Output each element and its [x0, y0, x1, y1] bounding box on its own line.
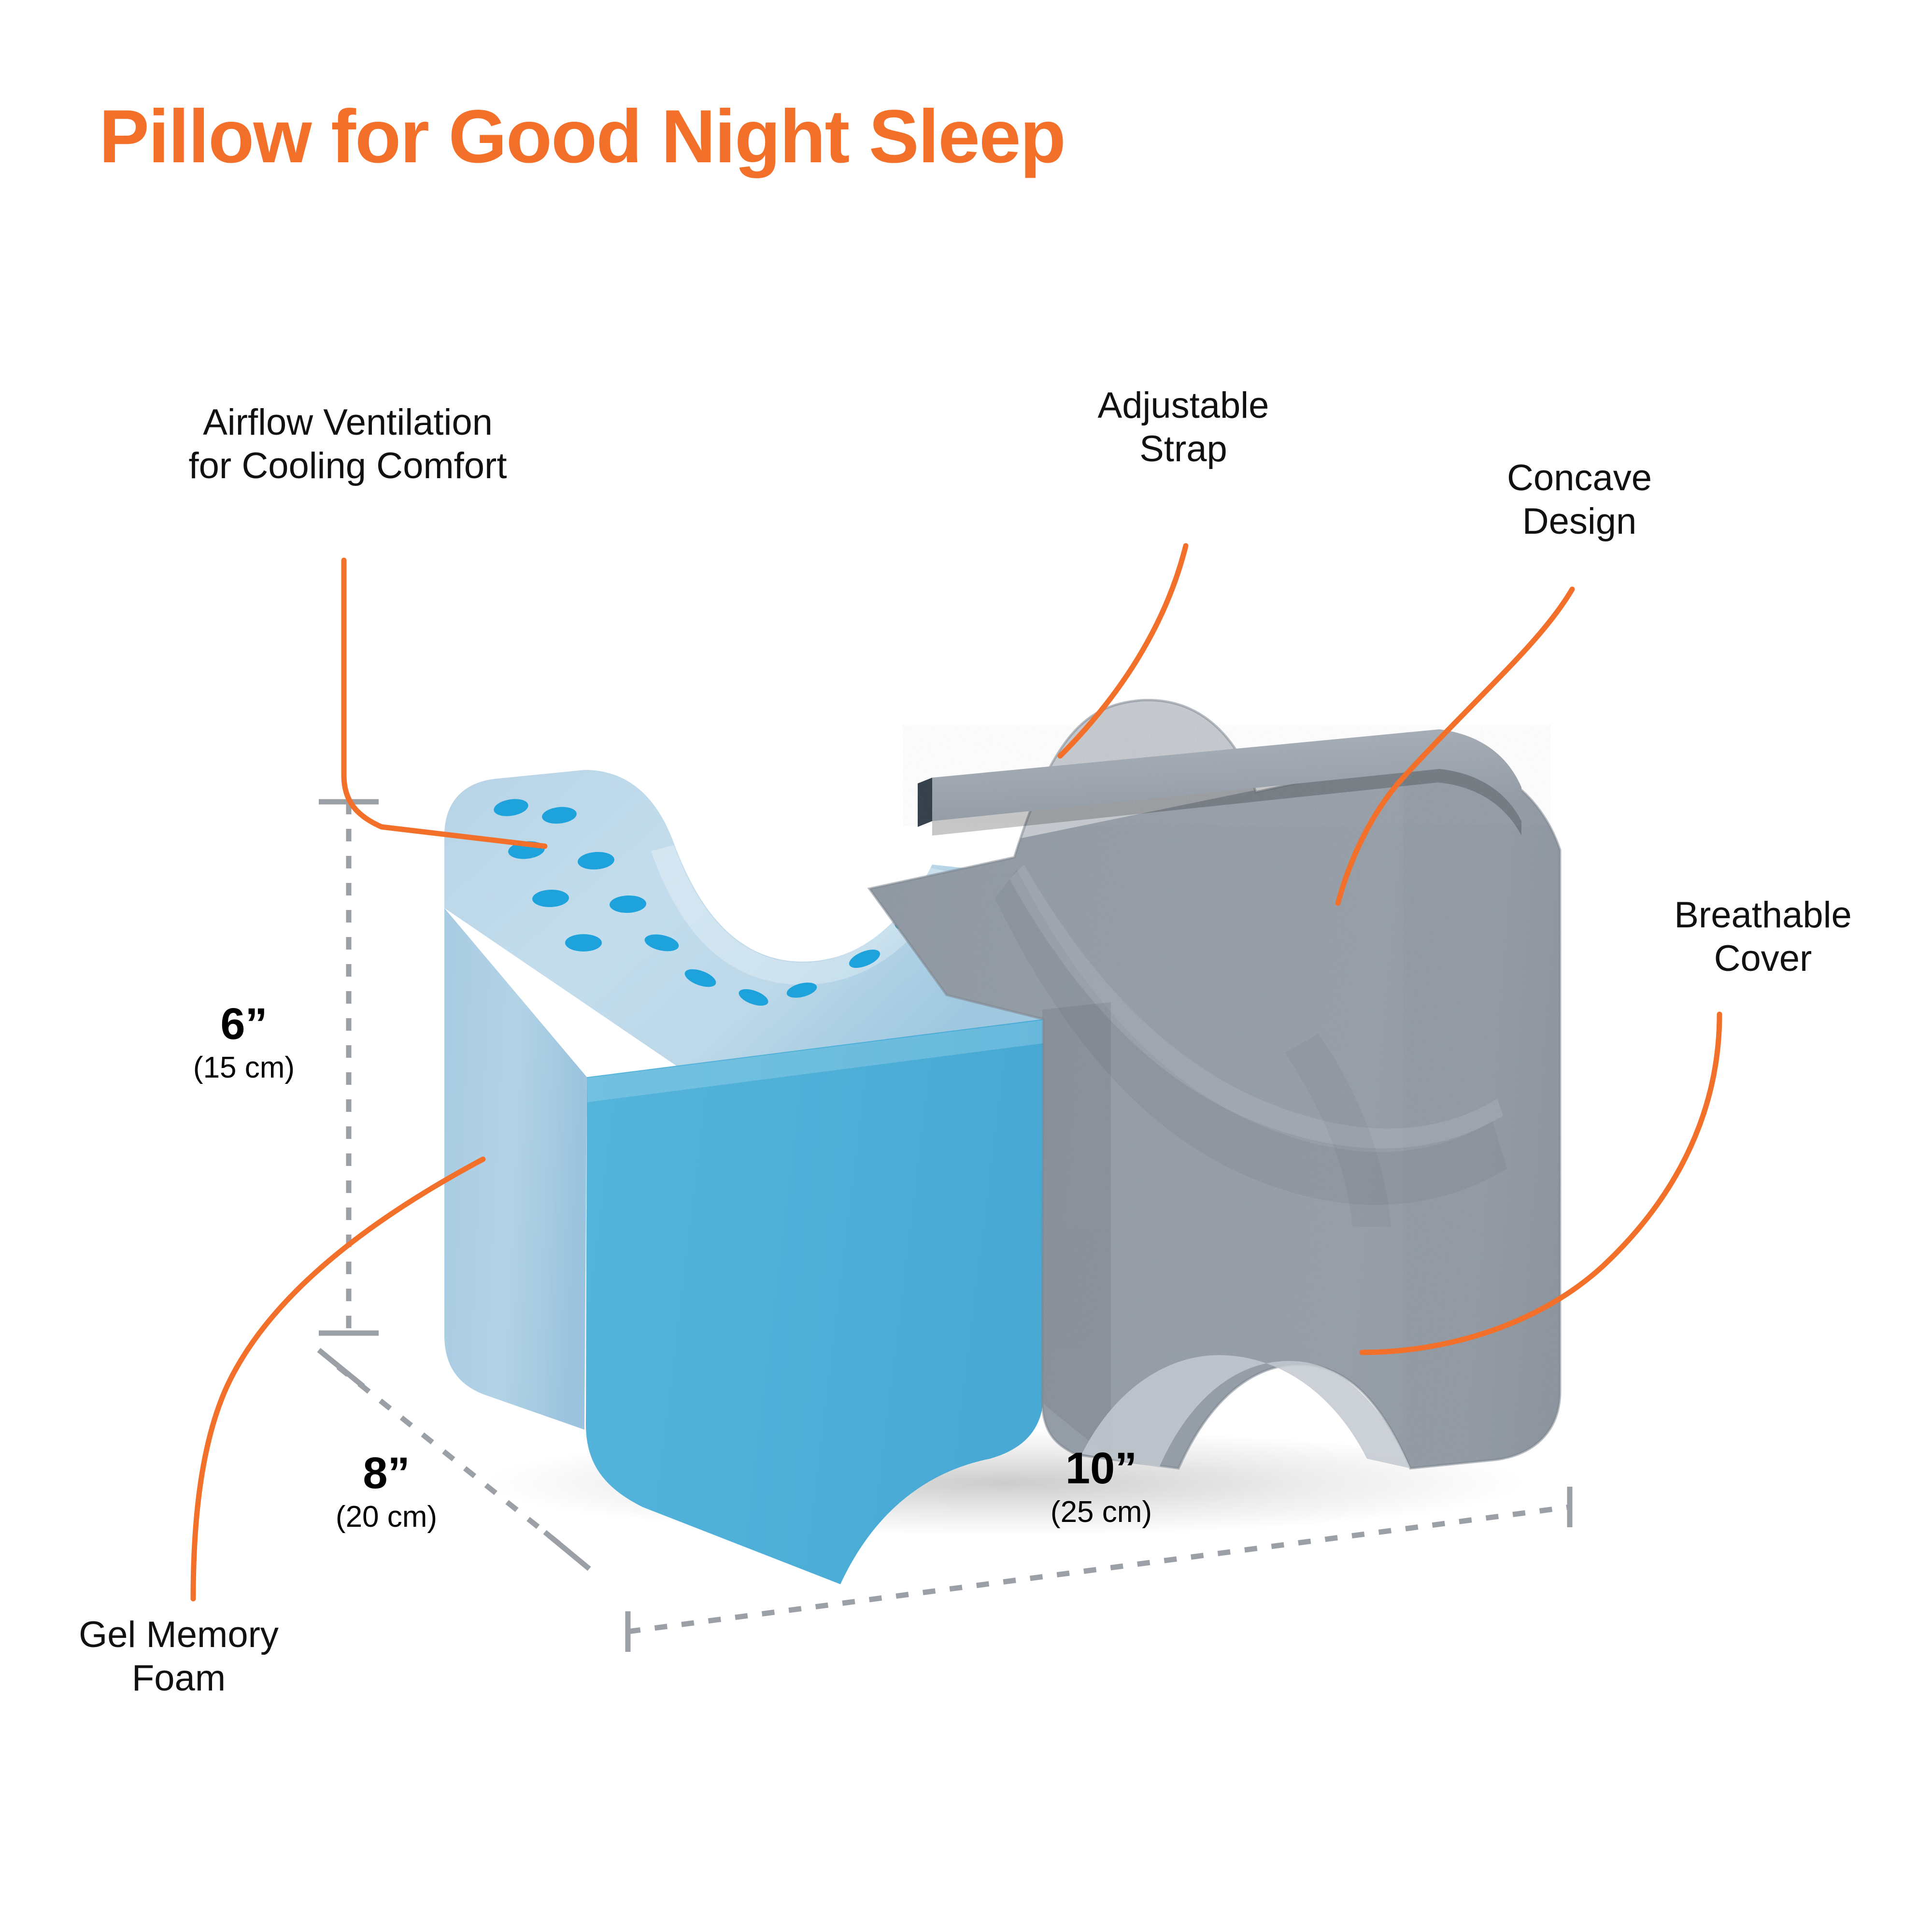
ventilation-holes	[493, 797, 965, 1009]
foam-left-face	[444, 836, 587, 1430]
page-title: Pillow for Good Night Sleep	[99, 99, 1065, 174]
leader-lines	[193, 546, 1719, 1599]
gel-foam-body	[444, 770, 1043, 1584]
vent-hole	[577, 851, 615, 870]
dimension-label-height: 6” (15 cm)	[164, 1000, 324, 1084]
callout-concave-design: Concave Design	[1444, 456, 1715, 543]
foam-front-highlight	[587, 1020, 1043, 1102]
callout-airflow-ventilation: Airflow Ventilation for Cooling Comfort	[87, 401, 609, 487]
dimension-depth-inches: 8”	[299, 1449, 473, 1498]
vent-hole	[643, 932, 680, 954]
leader-line-breathable-cover	[1362, 1014, 1719, 1352]
cover-front-face	[869, 724, 1575, 1497]
dimension-lines	[319, 802, 1570, 1652]
vent-hole	[532, 889, 569, 908]
breathable-cover-body	[860, 686, 1594, 1507]
leader-line-airflow	[344, 560, 545, 846]
foam-top-surface	[444, 770, 1043, 1072]
leader-line-adjustable-strap	[1060, 546, 1186, 756]
vent-hole	[507, 839, 545, 861]
cover-fabric-texture	[860, 686, 1594, 1507]
dimension-line-height	[319, 802, 379, 1333]
callout-breathable-cover: Breathable Cover	[1608, 894, 1918, 980]
cover-right-face	[1403, 753, 1575, 1488]
vent-hole	[565, 934, 602, 952]
dimension-height-inches: 6”	[164, 1000, 324, 1049]
cover-waist-shadow	[1285, 1034, 1391, 1227]
strap-band	[932, 729, 1521, 821]
vent-hole	[493, 797, 529, 819]
vent-hole	[785, 980, 819, 1001]
dimension-label-width: 10” (25 cm)	[1009, 1444, 1193, 1529]
vent-hole	[609, 895, 646, 914]
vent-hole	[541, 805, 577, 825]
strap-texture	[932, 729, 1521, 821]
product-shadow	[483, 1430, 1526, 1536]
vent-hole	[682, 966, 718, 990]
cover-crease-highlight	[1009, 865, 1503, 1148]
callout-gel-memory-foam: Gel Memory Foam	[10, 1613, 348, 1700]
vent-hole	[929, 872, 965, 897]
dimension-depth-metric: (20 cm)	[299, 1501, 473, 1534]
cover-outline	[869, 700, 1560, 1468]
infographic-page: Pillow for Good Night Sleep	[0, 0, 1932, 1932]
strap-edge-shadow	[932, 769, 1521, 836]
vent-hole	[892, 907, 928, 933]
dimension-height-metric: (15 cm)	[164, 1051, 324, 1084]
cover-fold-shading	[995, 869, 1507, 1205]
dimension-width-metric: (25 cm)	[1009, 1496, 1193, 1529]
cover-left-edge-shadow	[1042, 1002, 1111, 1459]
leader-line-concave-design	[1338, 589, 1572, 903]
vent-hole	[737, 986, 770, 1009]
vent-hole	[847, 946, 882, 971]
foam-concave-notch	[651, 845, 956, 985]
dimension-width-inches: 10”	[1009, 1444, 1193, 1493]
adjustable-strap	[918, 729, 1521, 836]
foam-front-face	[586, 1019, 1043, 1584]
strap-end-thickness	[918, 778, 932, 827]
callout-adjustable-strap: Adjustable Strap	[1005, 384, 1362, 470]
dimension-label-depth: 8” (20 cm)	[299, 1449, 473, 1534]
